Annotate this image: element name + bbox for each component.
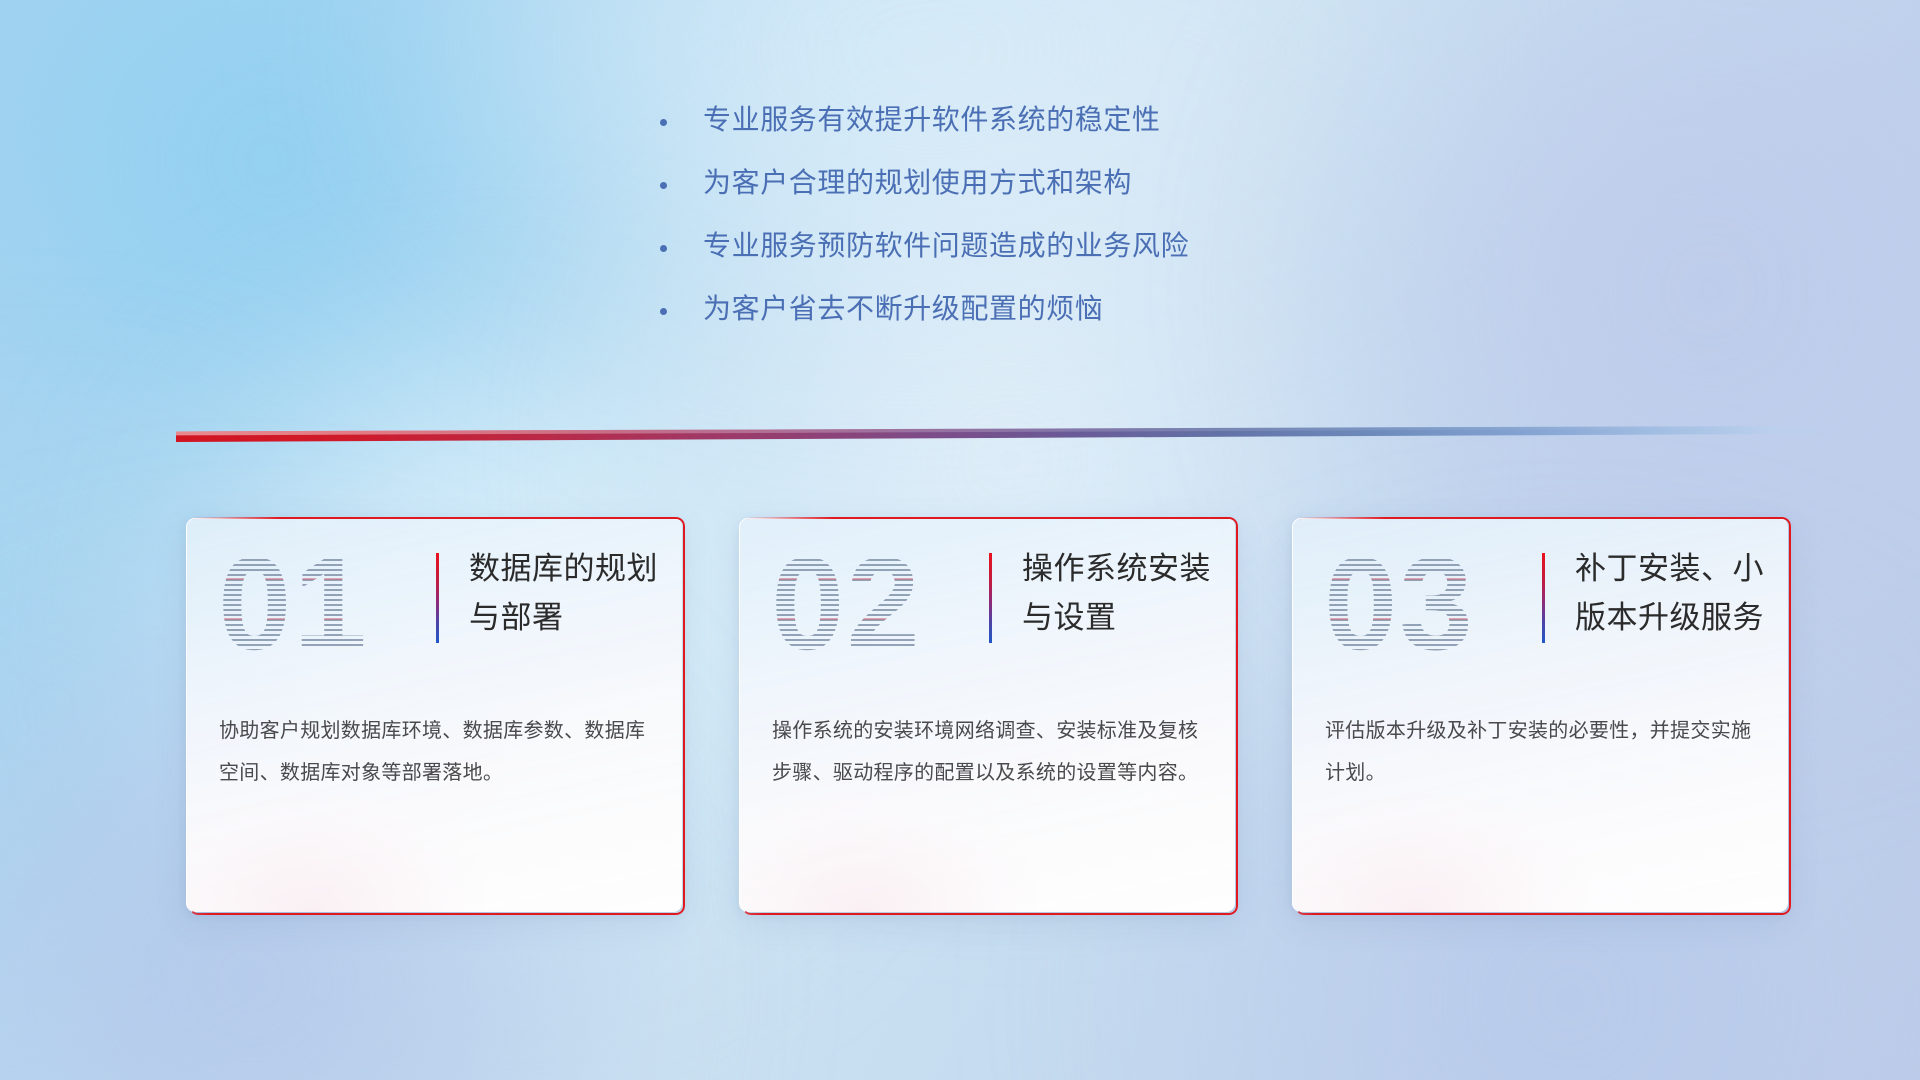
card-body-text: 操作系统的安装环境网络调查、安装标准及复核步骤、驱动程序的配置以及系统的设置等内…	[772, 710, 1207, 794]
card-accent-bar	[989, 553, 992, 643]
card-accent-bar	[436, 553, 439, 643]
list-item: 为客户合理的规划使用方式和架构	[660, 163, 1520, 226]
service-card-group: 01 01 数据库的规划与部署 协助客户规划数据库环境、数据库参数、数据库空间、…	[186, 518, 1788, 912]
bullet-item-label: 为客户合理的规划使用方式和架构	[703, 163, 1132, 203]
list-item: 专业服务预防软件问题造成的业务风险	[660, 226, 1520, 289]
bullet-item-label: 专业服务有效提升软件系统的稳定性	[703, 100, 1161, 140]
bullet-item-label: 为客户省去不断升级配置的烦恼	[703, 289, 1103, 329]
card-body-text: 评估版本升级及补丁安装的必要性，并提交实施计划。	[1325, 710, 1760, 794]
bullet-dot-icon	[660, 308, 667, 315]
card-accent-bar	[1542, 553, 1545, 643]
list-item: 专业服务有效提升软件系统的稳定性	[660, 100, 1520, 163]
card-body-text: 协助客户规划数据库环境、数据库参数、数据库空间、数据库对象等部署落地。	[219, 710, 654, 794]
bullet-dot-icon	[660, 245, 667, 252]
section-divider	[176, 420, 1856, 442]
card-title: 补丁安装、小版本升级服务	[1575, 544, 1770, 642]
bullet-item-label: 专业服务预防软件问题造成的业务风险	[703, 226, 1189, 266]
bullet-dot-icon	[660, 119, 667, 126]
service-card-03[interactable]: 03 03 补丁安装、小版本升级服务 评估版本升级及补丁安装的必要性，并提交实施…	[1292, 518, 1788, 912]
benefits-bullet-list: 专业服务有效提升软件系统的稳定性 为客户合理的规划使用方式和架构 专业服务预防软…	[660, 100, 1520, 352]
card-title: 数据库的规划与部署	[469, 544, 664, 642]
list-item: 为客户省去不断升级配置的烦恼	[660, 289, 1520, 352]
bullet-dot-icon	[660, 182, 667, 189]
service-card-01[interactable]: 01 01 数据库的规划与部署 协助客户规划数据库环境、数据库参数、数据库空间、…	[186, 518, 682, 912]
background-glow-top-left	[0, 0, 720, 540]
service-card-02[interactable]: 02 02 操作系统安装与设置 操作系统的安装环境网络调查、安装标准及复核步骤、…	[739, 518, 1235, 912]
card-title: 操作系统安装与设置	[1022, 544, 1217, 642]
